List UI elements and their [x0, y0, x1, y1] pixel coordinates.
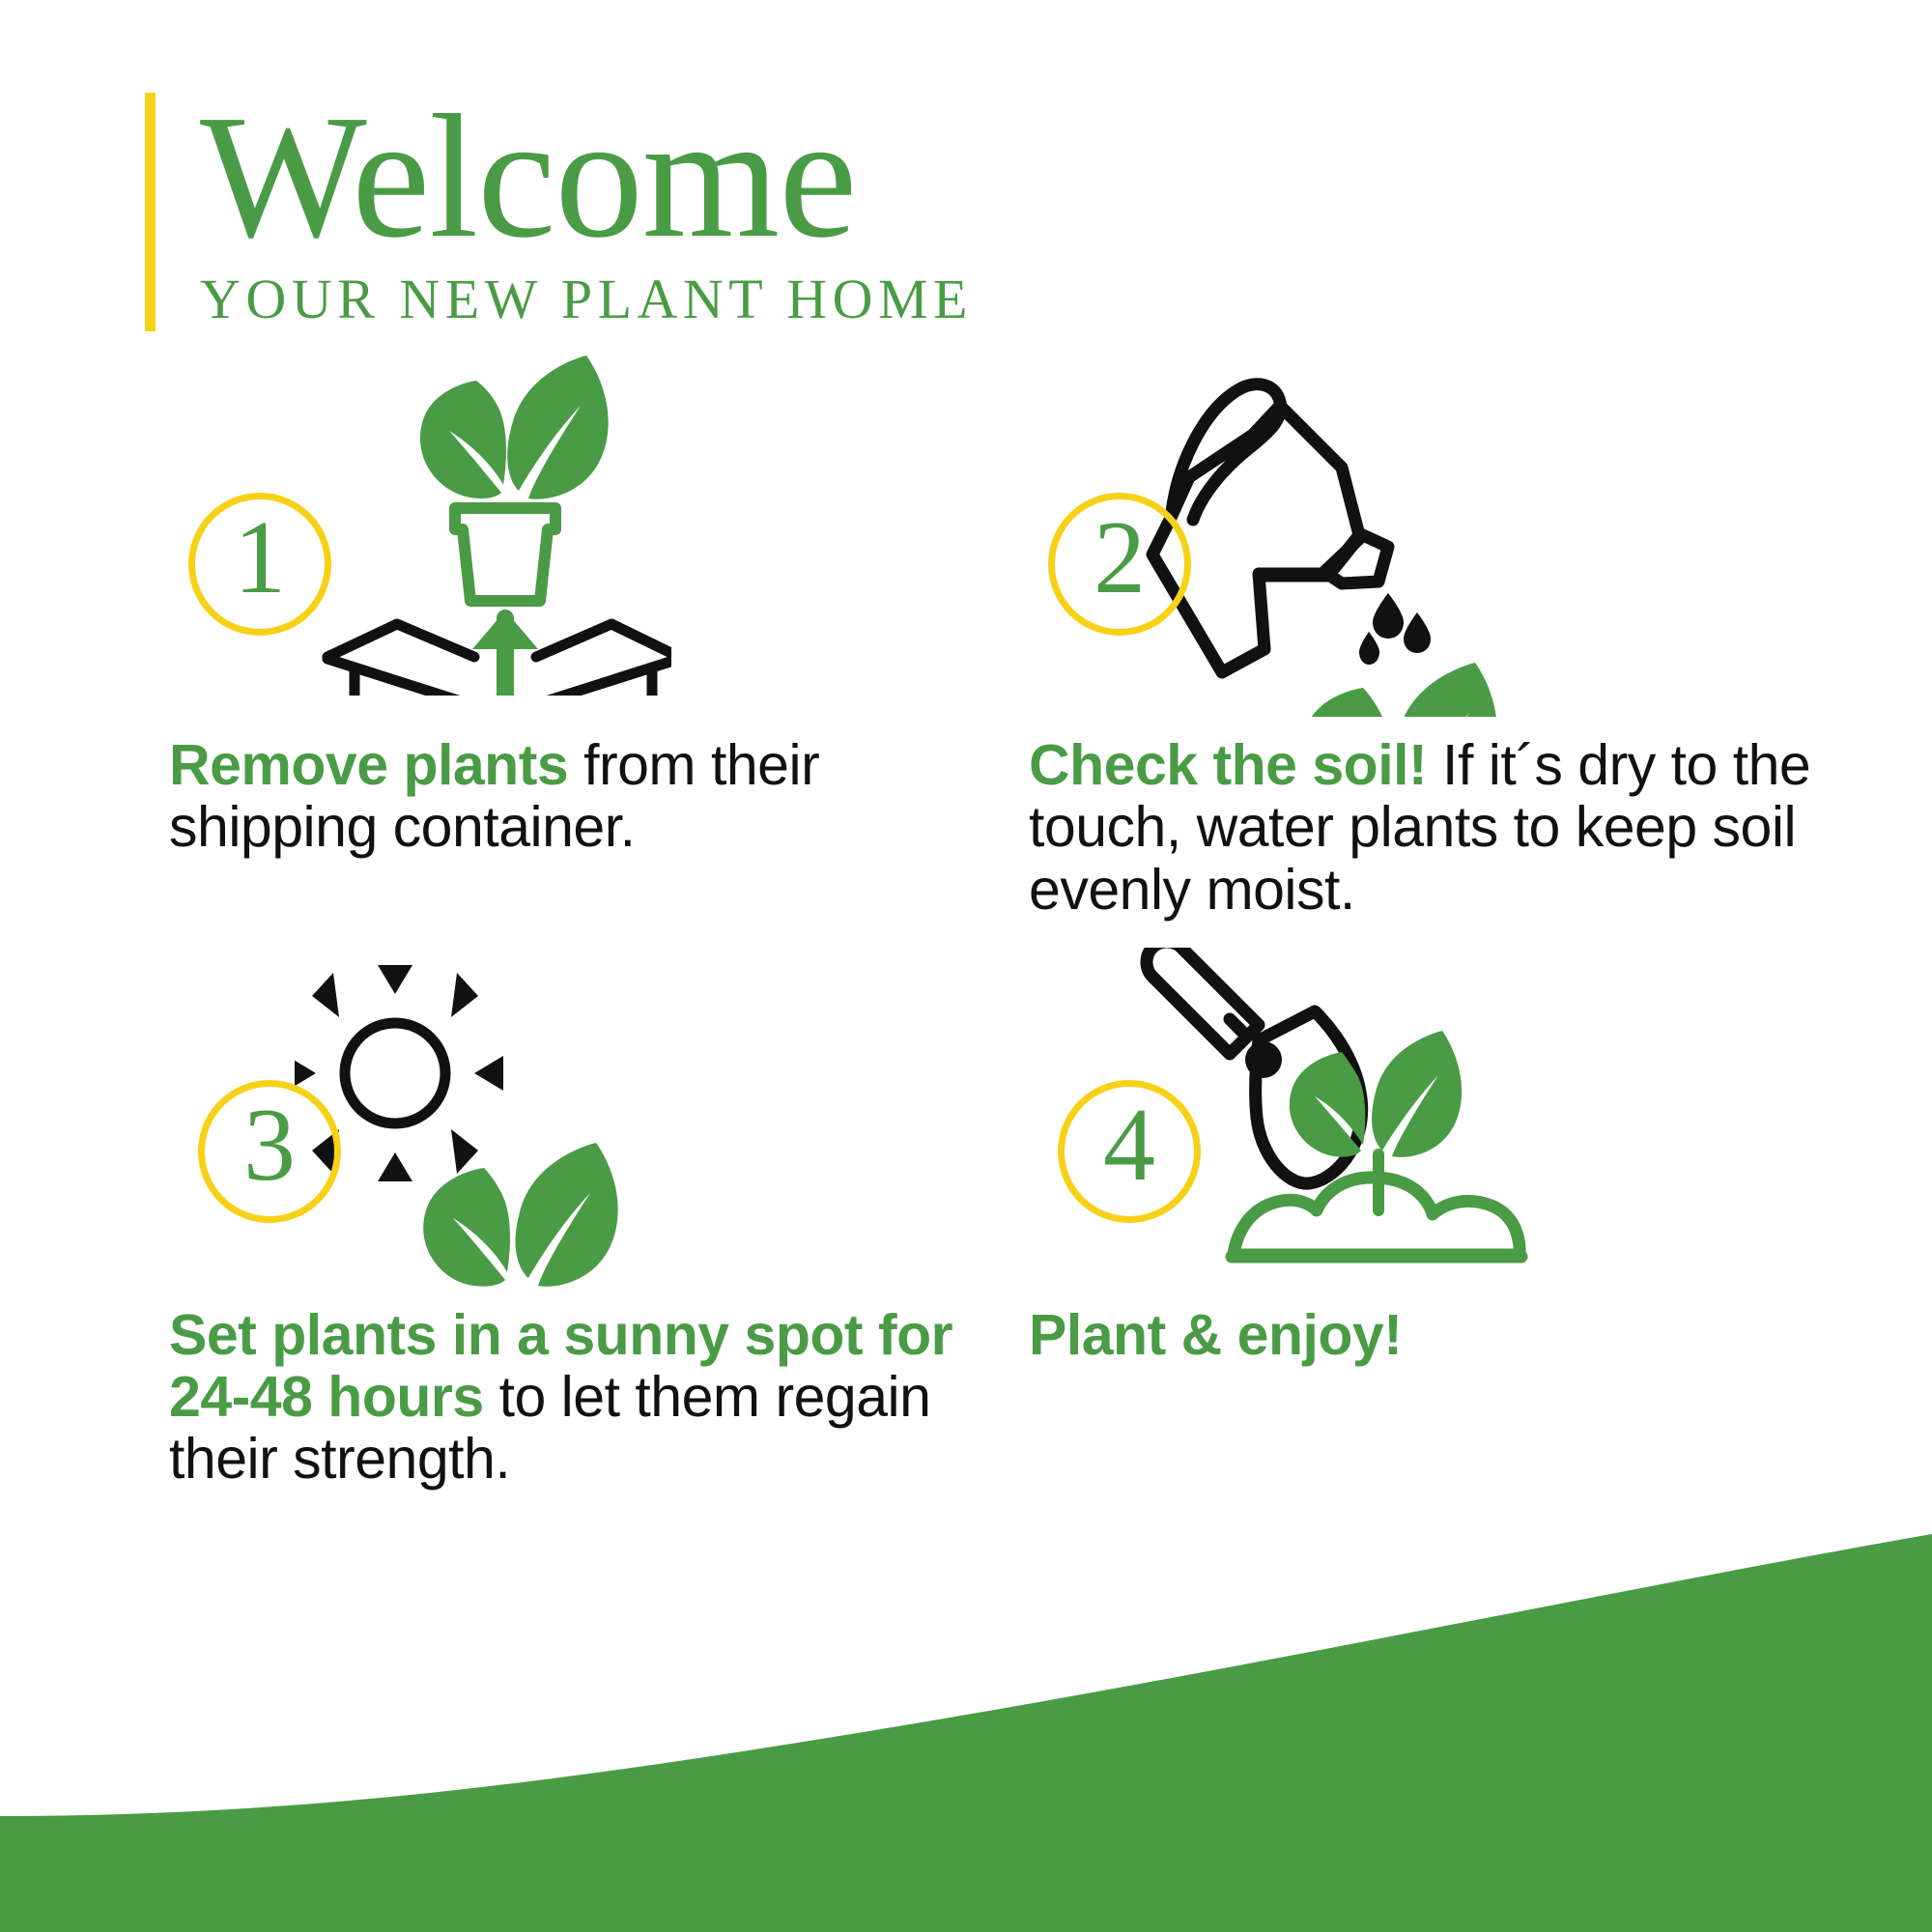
- step-1-text: Remove plants from their shipping contai…: [169, 734, 1000, 859]
- footer-green-band: [0, 1526, 1932, 1932]
- step-1: 1 Remove plants from their shipping cont…: [169, 406, 1000, 921]
- header: Welcome YOUR NEW PLANT HOME: [145, 93, 973, 331]
- page-subtitle: YOUR NEW PLANT HOME: [200, 267, 973, 331]
- step-3: 3 Set plants in a sunny spot for 24-48 h…: [169, 998, 1000, 1491]
- step-4-text-highlight: Plant & enjoy!: [1029, 1303, 1402, 1367]
- step-3-number: 3: [243, 1094, 296, 1198]
- step-4-number: 4: [1103, 1094, 1155, 1198]
- step-1-text-highlight: Remove plants: [169, 733, 568, 797]
- potted-plant-rising-from-open-box-icon: [304, 338, 671, 696]
- steps-row-1: 1 Remove plants from their shipping cont…: [0, 406, 1932, 921]
- sun-shining-on-potted-plant-icon: [295, 959, 681, 1288]
- step-3-badge: 3: [198, 1080, 341, 1223]
- step-4: 4 Plant & enjoy!: [1029, 998, 1860, 1491]
- step-2-text-highlight: Check the soil!: [1029, 733, 1427, 797]
- accent-bar: [145, 93, 156, 331]
- page-title: Welcome: [200, 93, 973, 261]
- steps-grid: 1 Remove plants from their shipping cont…: [0, 406, 1932, 1491]
- step-2-number: 2: [1094, 506, 1146, 611]
- trowel-and-seedling-in-soil-mound-icon: [1135, 948, 1560, 1266]
- step-2-text: Check the soil! If it´s dry to the touch…: [1029, 734, 1860, 921]
- steps-row-2: 3 Set plants in a sunny spot for 24-48 h…: [0, 998, 1932, 1491]
- step-2-badge: 2: [1048, 493, 1191, 636]
- step-2: 2 Check the soil! If it´s dry to the tou…: [1029, 406, 1860, 921]
- step-1-number: 1: [234, 506, 286, 611]
- watering-can-pouring-on-potted-plant-icon: [1135, 330, 1541, 717]
- step-1-badge: 1: [188, 493, 331, 636]
- step-3-text: Set plants in a sunny spot for 24-48 hou…: [169, 1304, 1000, 1491]
- step-4-text: Plant & enjoy!: [1029, 1304, 1860, 1366]
- step-4-badge: 4: [1058, 1080, 1201, 1223]
